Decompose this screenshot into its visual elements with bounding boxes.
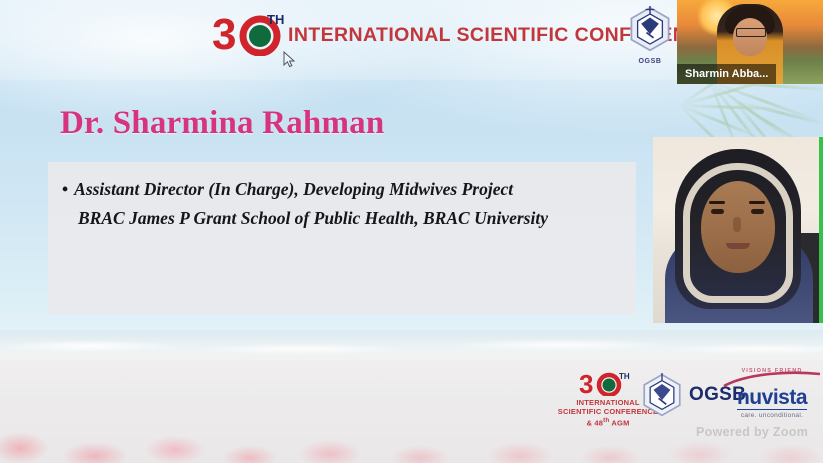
nuvista-swoosh-icon [720,371,823,387]
footer-nuvista-logo: VISIONS FRIEND nuvista care. uncondition… [720,368,823,419]
bullet-marker-icon: • [62,179,68,199]
slide-content-box: •Assistant Director (In Charge), Develop… [48,162,636,314]
video-tile-active-speaker[interactable] [653,137,823,323]
speaker-eye-right [751,209,764,214]
mouse-cursor-icon [283,51,297,69]
slide-bullet-continuation: BRAC James P Grant School of Public Heal… [62,206,622,231]
footer-logo-line-3: & 48th AGM [556,417,660,428]
video-tile-participant[interactable]: Sharmin Abba... [677,0,823,84]
nuvista-wordmark: nuvista [737,387,807,410]
slide-bullet-line-1: •Assistant Director (In Charge), Develop… [62,176,622,202]
conference-30th-logo-icon: 3 TH [212,10,284,56]
participant-name-label: Sharmin Abba... [677,64,776,84]
footer-30th-logo-icon: 3 TH [579,370,637,396]
ogsb-crest-icon [627,6,673,52]
slide-bullet-text-3: University [474,208,548,228]
zoom-screenshare-screen: 3 TH INTERNATIONAL SCIENTIFIC CONFERENCE… [0,0,823,463]
speaker-nose [733,217,741,232]
slide-title: Dr. Sharmina Rahman [60,105,384,142]
ogsb-logo-header-label: OGSB [624,58,676,65]
participant-face [733,18,767,56]
svg-text:TH: TH [619,372,630,381]
slide-bullet-text-2: BRAC James P Grant School of Public Heal… [62,206,470,231]
participant-glasses-icon [736,28,766,37]
nuvista-tagline: care. unconditional. [720,412,823,419]
speaker-eyebrow-left [709,201,725,204]
slide-bullet-text-1: Assistant Director (In Charge), Developi… [74,179,513,199]
slide-footer-logos: 3 TH INTERNATIONAL SCIENTIFIC CONFERENCE… [520,366,823,463]
slide-background-foam [0,336,823,358]
speaker-mouth [726,243,750,249]
svg-text:3: 3 [579,370,593,396]
svg-text:TH: TH [267,12,284,27]
active-speaker-border [819,137,823,323]
ogsb-logo-header: OGSB [624,6,676,70]
powered-by-zoom-label: Powered by Zoom [696,425,808,439]
speaker-eyebrow-right [749,201,765,204]
speaker-eye-left [711,209,724,214]
footer-ogsb-crest-icon [640,373,684,417]
svg-text:3: 3 [212,10,236,56]
